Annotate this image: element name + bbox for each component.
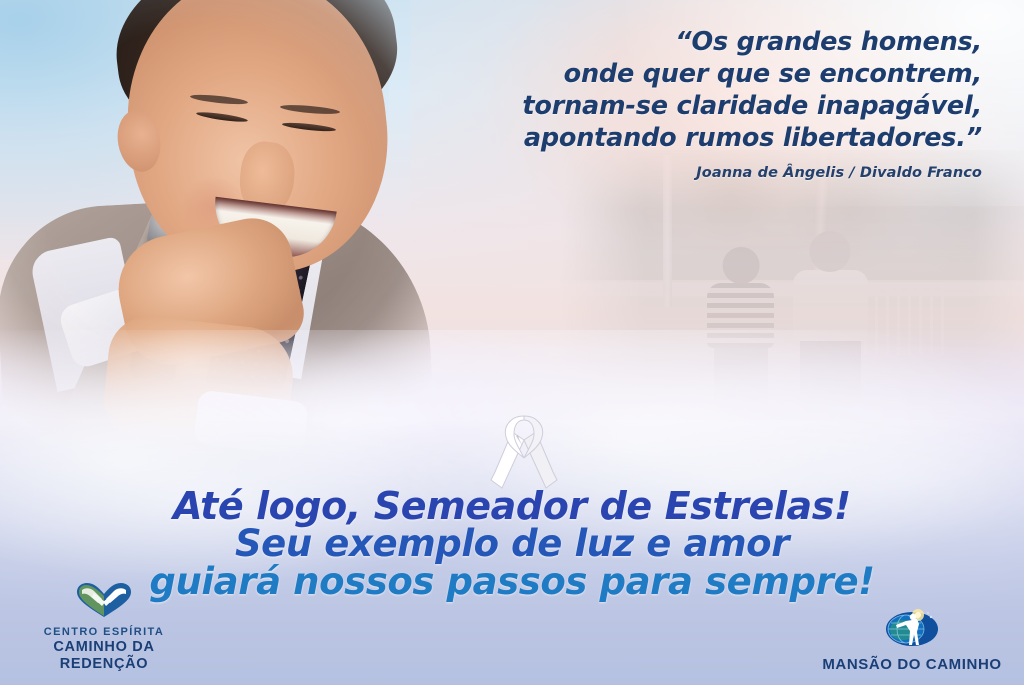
quote-line-4: apontando rumos libertadores.” — [362, 122, 982, 154]
heart-hands-logo-icon — [8, 582, 200, 623]
headline-line-2: Seu exemplo de luz e amor — [0, 525, 1024, 563]
memorial-poster: “Os grandes homens, onde quer que se enc… — [0, 0, 1024, 685]
mourning-ribbon-icon — [489, 410, 559, 492]
globe-torch-logo-icon — [812, 606, 1012, 653]
quote-line-3: tornam-se claridade inapagável, — [362, 90, 982, 122]
logo-centro-espirita: CENTRO ESPÍRITA CAMINHO DA REDENÇÃO — [8, 582, 200, 673]
adult-head — [810, 231, 851, 272]
quote-line-2: onde quer que se encontrem, — [362, 58, 982, 90]
logo-left-line-2: CAMINHO DA REDENÇÃO — [8, 639, 200, 673]
logo-right-name: MANSÃO DO CAMINHO — [812, 656, 1012, 673]
quote-block: “Os grandes homens, onde quer que se enc… — [362, 26, 982, 181]
quote-line-1: “Os grandes homens, — [362, 26, 982, 58]
child-head — [723, 247, 760, 284]
quote-attribution: Joanna de Ângelis / Divaldo Franco — [362, 165, 982, 181]
logo-mansao-do-caminho: MANSÃO DO CAMINHO — [812, 606, 1012, 673]
headline-line-1: Até logo, Semeador de Estrelas! — [0, 487, 1024, 525]
logo-left-line-1: CENTRO ESPÍRITA — [8, 626, 200, 639]
